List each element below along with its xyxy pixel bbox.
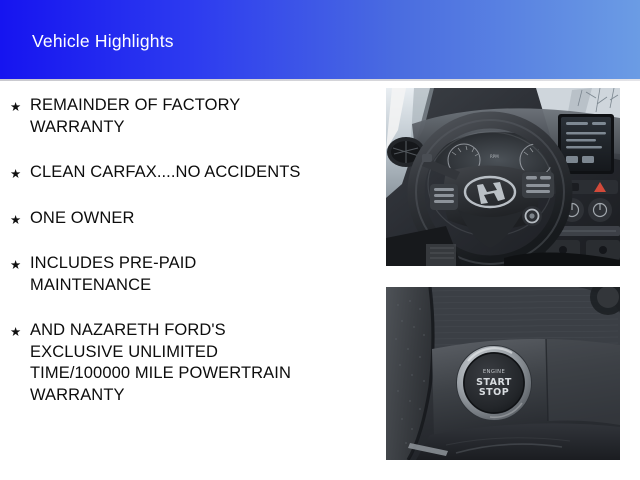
list-item-label: AND NAZARETH FORD'S EXCLUSIVE UNLIMITED …: [30, 320, 372, 406]
start-stop-button-image: ENGINE START STOP: [386, 287, 620, 460]
start-stop-button-photo[interactable]: ENGINE START STOP: [386, 287, 620, 460]
list-item: ★ ONE OWNER: [0, 208, 372, 230]
list-item-label: ONE OWNER: [30, 208, 372, 230]
list-item-label: INCLUDES PRE-PAID MAINTENANCE: [30, 253, 372, 296]
svg-text:ENGINE: ENGINE: [483, 369, 505, 375]
page-title: Vehicle Highlights: [32, 31, 174, 52]
vehicle-highlights-list: ★ REMAINDER OF FACTORY WARRANTY ★ CLEAN …: [0, 95, 372, 406]
list-item-label: REMAINDER OF FACTORY WARRANTY: [30, 95, 372, 138]
steering-wheel-photo[interactable]: RPM: [386, 88, 620, 266]
svg-text:RPM: RPM: [490, 154, 499, 159]
star-icon: ★: [10, 96, 21, 117]
list-item: ★ CLEAN CARFAX....NO ACCIDENTS: [0, 162, 372, 184]
svg-text:STOP: STOP: [479, 387, 509, 398]
steering-wheel-image: RPM: [386, 88, 620, 266]
header-divider: [0, 79, 640, 81]
list-item-label: CLEAN CARFAX....NO ACCIDENTS: [30, 162, 372, 184]
star-icon: ★: [10, 209, 21, 230]
list-item: ★ INCLUDES PRE-PAID MAINTENANCE: [0, 253, 372, 296]
list-item: ★ AND NAZARETH FORD'S EXCLUSIVE UNLIMITE…: [0, 320, 372, 406]
star-icon: ★: [10, 254, 21, 275]
list-item: ★ REMAINDER OF FACTORY WARRANTY: [0, 95, 372, 138]
star-icon: ★: [10, 163, 21, 184]
star-icon: ★: [10, 321, 21, 342]
